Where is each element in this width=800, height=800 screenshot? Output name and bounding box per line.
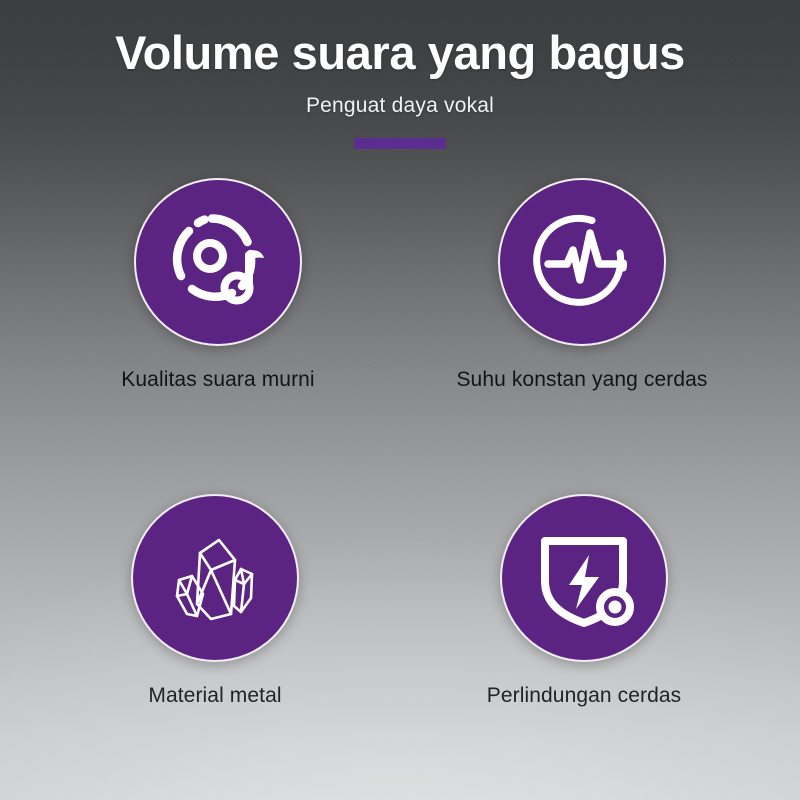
feature-label: Material metal bbox=[148, 684, 281, 708]
feature-icon-badge bbox=[500, 494, 668, 662]
feature-item[interactable]: Kualitas suara murni bbox=[42, 178, 394, 450]
feature-icon-badge bbox=[498, 178, 666, 346]
feature-item[interactable]: Suhu konstan yang cerdas bbox=[406, 178, 758, 450]
feature-label: Kualitas suara murni bbox=[121, 368, 314, 392]
page-title: Volume suara yang bagus bbox=[0, 26, 800, 80]
shield-lightning-bolt-icon bbox=[529, 523, 639, 633]
promo-banner: Volume suara yang bagus Penguat daya vok… bbox=[0, 0, 800, 800]
page-subtitle: Penguat daya vokal bbox=[0, 94, 800, 118]
feature-item[interactable]: Material metal bbox=[39, 494, 391, 766]
crystal-cluster-icon bbox=[159, 522, 271, 634]
feature-icon-badge bbox=[131, 494, 299, 662]
feature-label: Perlindungan cerdas bbox=[487, 684, 682, 708]
feature-grid: Kualitas suara murni Suhu k bbox=[0, 178, 800, 766]
feature-icon-badge bbox=[134, 178, 302, 346]
pulse-waveform-circle-icon bbox=[528, 208, 636, 316]
header: Volume suara yang bagus Penguat daya vok… bbox=[0, 0, 800, 149]
feature-item[interactable]: Perlindungan cerdas bbox=[408, 494, 760, 766]
feature-label: Suhu konstan yang cerdas bbox=[456, 368, 707, 392]
vinyl-record-music-note-icon bbox=[162, 206, 274, 318]
accent-divider bbox=[354, 138, 446, 149]
